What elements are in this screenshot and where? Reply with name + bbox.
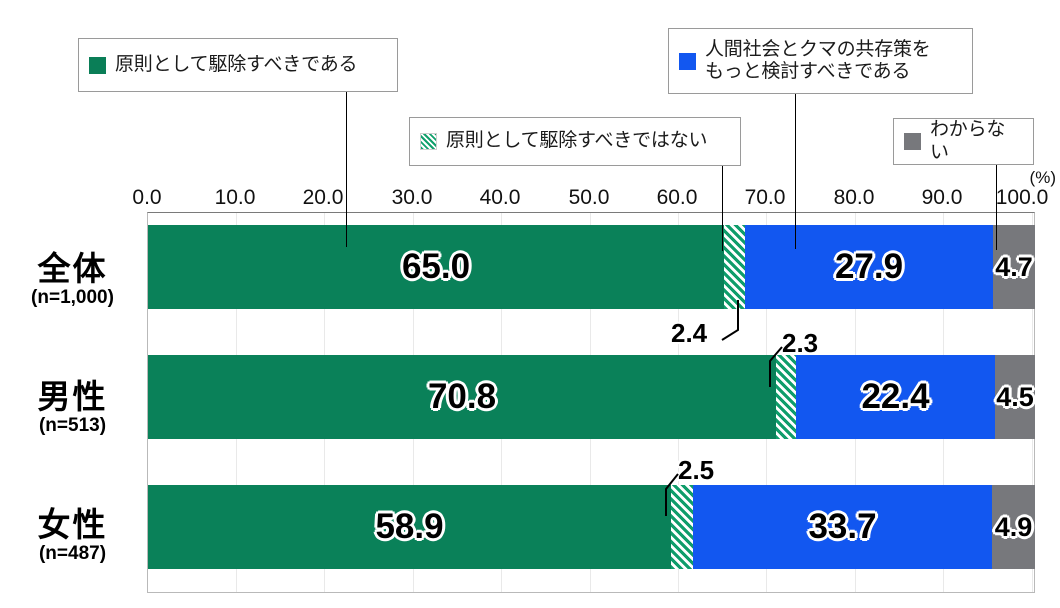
gray-square-icon: [904, 133, 921, 150]
legend-item-gray[interactable]: わからない: [893, 118, 1034, 165]
row-label-name: 男性: [0, 380, 145, 415]
legend-label-green: 原則として駆除すべきである: [115, 54, 357, 76]
x-tick: 0.0: [132, 186, 161, 210]
bar-segment-blue[interactable]: 22.4: [796, 355, 995, 439]
row-label-n: (n=513): [0, 415, 145, 438]
legend-item-blue[interactable]: 人間社会とクマの共存策を もっと検討すべきである: [668, 28, 973, 94]
blue-square-icon: [679, 53, 696, 70]
callout-leader-hatch-dansei: [762, 345, 788, 387]
hatched-square-icon: [420, 133, 437, 150]
x-tick: 40.0: [480, 186, 521, 210]
callout-value-hatch-zentai: 2.4: [671, 318, 707, 349]
legend-item-hatch[interactable]: 原則として駆除すべきではない: [409, 117, 741, 166]
callout-leader-hatch-zentai: [716, 300, 742, 342]
legend-label-blue: 人間社会とクマの共存策を もっと検討すべきである: [705, 39, 931, 84]
bar-row-dansei: 70.8 22.4 4.5: [148, 355, 1034, 439]
row-label-name: 全体: [0, 252, 145, 287]
bar-segment-blue[interactable]: 33.7: [693, 485, 992, 569]
leader-line-blue: [795, 94, 796, 249]
row-label-name: 女性: [0, 508, 145, 543]
x-tick: 70.0: [745, 186, 786, 210]
x-tick: 20.0: [303, 186, 344, 210]
bar-value-gray: 4.9: [995, 512, 1033, 543]
row-label-n: (n=1,000): [0, 287, 145, 310]
callout-leader-hatch-josei: [658, 472, 684, 516]
x-tick: 10.0: [215, 186, 256, 210]
bar-segment-gray[interactable]: 4.5: [995, 355, 1035, 439]
bar-segment-green[interactable]: 58.9: [148, 485, 671, 569]
bar-value-green: 70.8: [428, 377, 496, 417]
bar-segment-blue[interactable]: 27.9: [745, 225, 993, 309]
row-label-n: (n=487): [0, 543, 145, 566]
bar-value-gray: 4.5: [996, 382, 1034, 413]
bar-segment-green[interactable]: 65.0: [148, 225, 724, 309]
bar-value-green: 58.9: [375, 507, 443, 547]
plot-area: 65.0 27.9 4.7 70.8 22.4 4.5: [147, 212, 1035, 593]
bar-row-josei: 58.9 33.7 4.9: [148, 485, 1034, 569]
bar-segment-green[interactable]: 70.8: [148, 355, 776, 439]
axis-unit-label: (%): [1030, 168, 1056, 188]
bar-value-blue: 27.9: [835, 247, 903, 287]
x-axis: 0.0 10.0 20.0 30.0 40.0 50.0 60.0 70.0 8…: [0, 186, 1060, 214]
bar-segment-hatch[interactable]: [724, 225, 745, 309]
x-tick: 90.0: [922, 186, 963, 210]
row-label-dansei: 男性 (n=513): [0, 380, 145, 437]
x-tick: 50.0: [569, 186, 610, 210]
bar-value-blue: 33.7: [808, 507, 876, 547]
x-tick: 30.0: [392, 186, 433, 210]
bar-value-blue: 22.4: [861, 377, 929, 417]
row-label-josei: 女性 (n=487): [0, 508, 145, 565]
x-tick: 80.0: [834, 186, 875, 210]
bar-row-zentai: 65.0 27.9 4.7: [148, 225, 1034, 309]
legend-label-gray: わからない: [930, 119, 1023, 164]
legend-label-hatch: 原則として駆除すべきではない: [446, 130, 707, 152]
green-square-icon: [89, 57, 106, 74]
bar-segment-gray[interactable]: 4.9: [992, 485, 1035, 569]
chart-root: 原則として駆除すべきである 原則として駆除すべきではない 人間社会とクマの共存策…: [0, 0, 1060, 608]
leader-line-green: [346, 92, 347, 247]
leader-line-gray: [996, 165, 997, 250]
bar-segment-gray[interactable]: 4.7: [993, 225, 1035, 309]
leader-line-hatch: [722, 166, 723, 251]
bar-value-green: 65.0: [402, 247, 470, 287]
legend-item-green[interactable]: 原則として駆除すべきである: [78, 38, 398, 92]
row-label-zentai: 全体 (n=1,000): [0, 252, 145, 309]
bar-value-gray: 4.7: [995, 252, 1033, 283]
x-tick: 100.0: [996, 186, 1049, 210]
x-tick: 60.0: [657, 186, 698, 210]
